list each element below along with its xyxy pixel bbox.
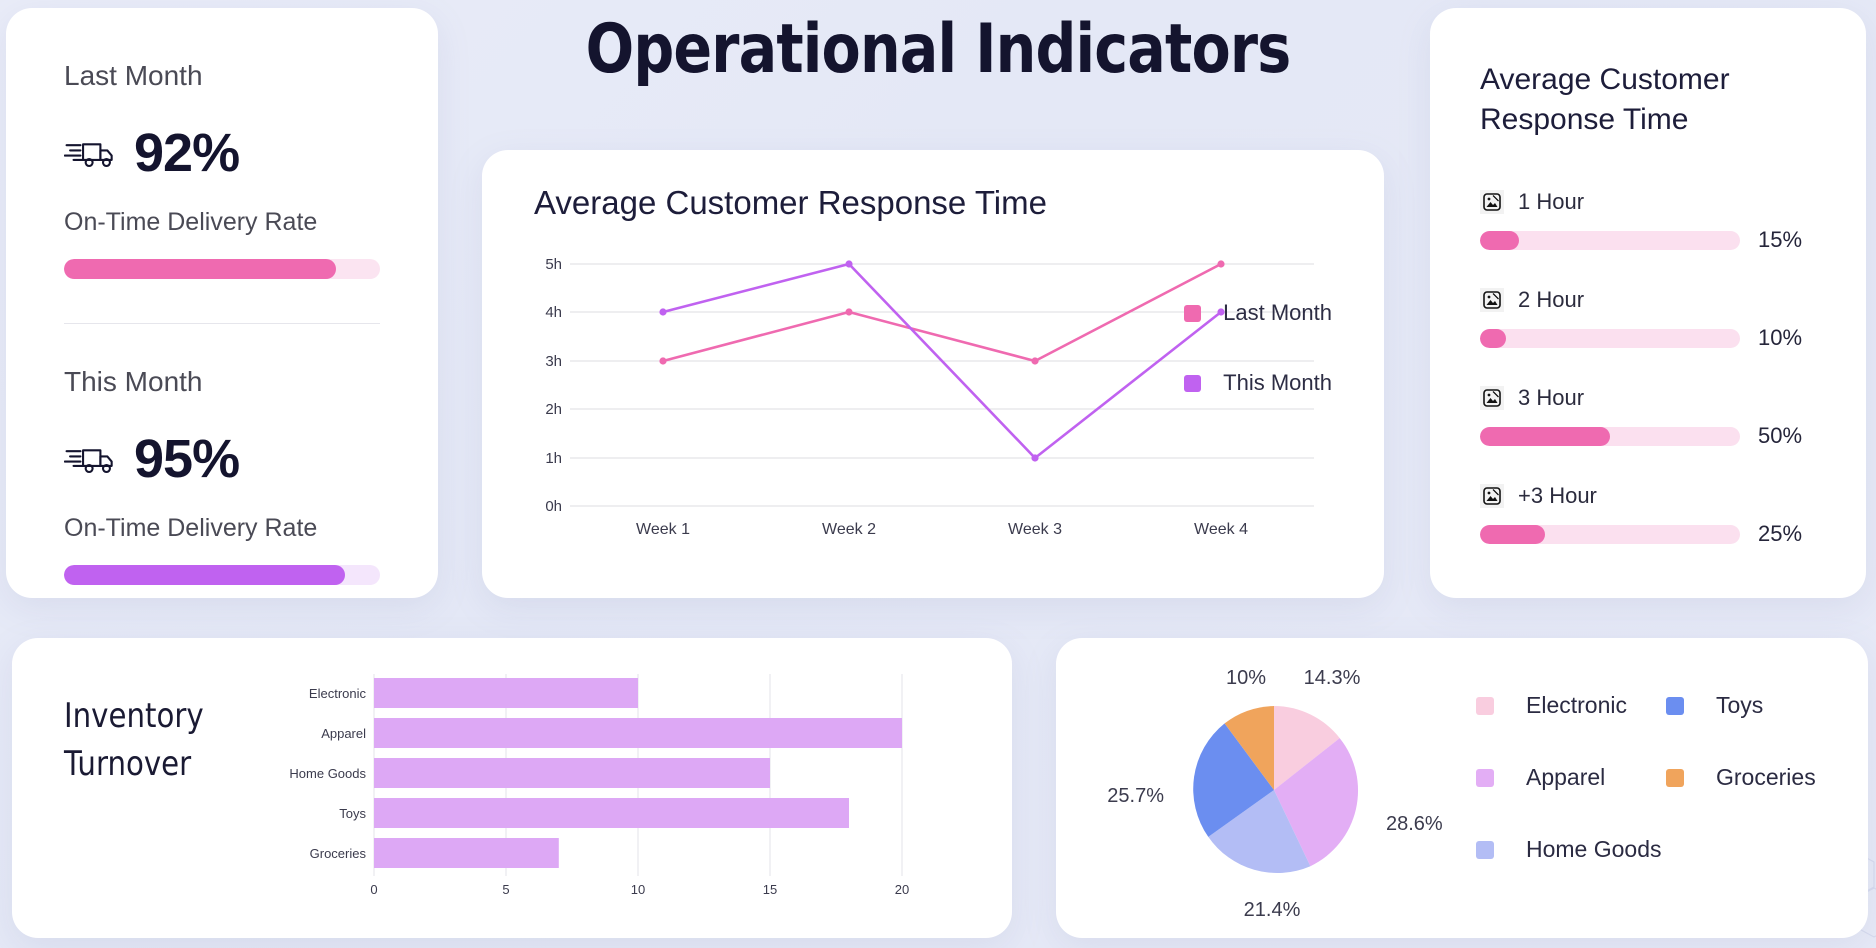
- legend-label: Last Month: [1223, 300, 1332, 326]
- legend-item-this-month[interactable]: This Month: [1184, 370, 1332, 396]
- bar-home-goods: [374, 758, 770, 788]
- svg-text:15: 15: [763, 882, 777, 897]
- response-time-label: 1 Hour: [1518, 189, 1584, 215]
- svg-text:4h: 4h: [545, 304, 562, 321]
- response-progress-track: [1480, 329, 1740, 348]
- response-percent-value: 10%: [1758, 325, 1816, 351]
- legend-item-toys[interactable]: Toys: [1666, 692, 1856, 719]
- kpi-progress-track: [64, 565, 380, 585]
- svg-text:Week 4: Week 4: [1194, 521, 1248, 538]
- svg-text:Week 2: Week 2: [822, 521, 876, 538]
- pie-chart-legend: Electronic Toys Apparel Groceries Home G…: [1476, 692, 1856, 908]
- svg-text:20: 20: [895, 882, 909, 897]
- kpi-value-row: 92%: [64, 126, 380, 180]
- svg-text:Groceries: Groceries: [310, 846, 367, 861]
- kpi-block-this-month: This Month: [64, 366, 380, 585]
- response-time-list: 1 Hour 15%: [1480, 189, 1816, 547]
- inventory-title-line-2: Turnover: [64, 740, 204, 788]
- response-card-title: Average Customer Response Time: [1480, 60, 1816, 139]
- broken-image-icon: [1480, 190, 1504, 214]
- svg-text:Toys: Toys: [339, 806, 366, 821]
- bar-toys: [374, 798, 849, 828]
- delivery-truck-icon: [64, 441, 116, 477]
- kpi-heading: This Month: [64, 366, 380, 398]
- response-progress-fill: [1480, 427, 1610, 446]
- inventory-title: Inventory Turnover: [64, 692, 204, 789]
- list-item: 1 Hour 15%: [1480, 189, 1816, 253]
- broken-image-icon: [1480, 386, 1504, 410]
- kpi-divider: [64, 323, 380, 324]
- inventory-turnover-card: Inventory Turnover Electron: [12, 638, 1012, 938]
- svg-text:0: 0: [370, 882, 377, 897]
- kpi-value-row: 95%: [64, 432, 380, 486]
- pie-value-toys: 25.7%: [1107, 785, 1164, 807]
- legend-item-last-month[interactable]: Last Month: [1184, 300, 1332, 326]
- legend-swatch-icon: [1184, 375, 1201, 392]
- svg-text:1h: 1h: [545, 450, 562, 467]
- bar-groceries: [374, 838, 559, 868]
- response-bar-row: 25%: [1480, 521, 1816, 547]
- svg-text:2h: 2h: [545, 401, 562, 418]
- line-chart-legend: Last Month This Month: [1184, 300, 1332, 396]
- list-item-head: 3 Hour: [1480, 385, 1816, 411]
- legend-swatch-icon: [1184, 305, 1201, 322]
- response-progress-fill: [1480, 231, 1519, 250]
- svg-text:3h: 3h: [545, 353, 562, 370]
- svg-text:0h: 0h: [545, 498, 562, 515]
- response-progress-track: [1480, 231, 1740, 250]
- legend-label: This Month: [1223, 370, 1332, 396]
- svg-text:5: 5: [502, 882, 509, 897]
- response-progress-fill: [1480, 329, 1506, 348]
- svg-text:10: 10: [631, 882, 645, 897]
- pie-value-electronic: 14.3%: [1304, 667, 1361, 689]
- category-share-pie-card: 14.3% 28.6% 21.4% 25.7% 10% Electronic T…: [1056, 638, 1868, 938]
- legend-swatch-icon: [1476, 697, 1494, 715]
- kpi-label: On-Time Delivery Rate: [64, 514, 380, 543]
- response-time-label: 3 Hour: [1518, 385, 1584, 411]
- legend-label: Home Goods: [1526, 836, 1662, 863]
- kpi-value: 95%: [134, 432, 239, 486]
- list-item: +3 Hour 25%: [1480, 483, 1816, 547]
- bar-apparel: [374, 718, 902, 748]
- svg-text:Home Goods: Home Goods: [289, 766, 366, 781]
- broken-image-icon: [1480, 484, 1504, 508]
- on-time-delivery-kpi-card: Last Month: [6, 8, 438, 598]
- list-item-head: 1 Hour: [1480, 189, 1816, 215]
- kpi-progress-track: [64, 259, 380, 279]
- legend-swatch-icon: [1666, 769, 1684, 787]
- list-item-head: +3 Hour: [1480, 483, 1816, 509]
- response-progress-fill: [1480, 525, 1545, 544]
- response-time-label: +3 Hour: [1518, 483, 1597, 509]
- list-item: 3 Hour 50%: [1480, 385, 1816, 449]
- response-percent-value: 25%: [1758, 521, 1816, 547]
- kpi-progress-fill: [64, 565, 345, 585]
- pie-value-groceries: 10%: [1226, 667, 1266, 689]
- kpi-label: On-Time Delivery Rate: [64, 208, 380, 237]
- svg-text:Week 1: Week 1: [636, 521, 690, 538]
- legend-item-home-goods[interactable]: Home Goods: [1476, 836, 1666, 863]
- response-bar-row: 15%: [1480, 227, 1816, 253]
- legend-item-groceries[interactable]: Groceries: [1666, 764, 1856, 791]
- response-progress-track: [1480, 427, 1740, 446]
- bar-electronic: [374, 678, 638, 708]
- kpi-heading: Last Month: [64, 60, 380, 92]
- svg-text:Apparel: Apparel: [321, 726, 366, 741]
- kpi-progress-fill: [64, 259, 336, 279]
- response-bar-row: 10%: [1480, 325, 1816, 351]
- legend-label: Groceries: [1716, 764, 1816, 791]
- svg-text:Electronic: Electronic: [309, 686, 367, 701]
- legend-swatch-icon: [1476, 769, 1494, 787]
- legend-label: Apparel: [1526, 764, 1605, 791]
- legend-item-electronic[interactable]: Electronic: [1476, 692, 1666, 719]
- response-time-label: 2 Hour: [1518, 287, 1584, 313]
- response-percent-value: 15%: [1758, 227, 1816, 253]
- category-share-pie-chart: 14.3% 28.6% 21.4% 25.7% 10%: [1076, 644, 1496, 932]
- svg-text:5h: 5h: [545, 256, 562, 273]
- pie-value-apparel: 28.6%: [1386, 813, 1443, 835]
- legend-item-apparel[interactable]: Apparel: [1476, 764, 1666, 791]
- legend-swatch-icon: [1666, 697, 1684, 715]
- response-bar-row: 50%: [1480, 423, 1816, 449]
- legend-swatch-icon: [1476, 841, 1494, 859]
- kpi-block-last-month: Last Month: [64, 60, 380, 279]
- delivery-truck-icon: [64, 135, 116, 171]
- response-progress-track: [1480, 525, 1740, 544]
- inventory-turnover-bar-chart: Electronic Apparel Home Goods Toys Groce…: [262, 668, 982, 916]
- legend-label: Toys: [1716, 692, 1763, 719]
- line-chart-title: Average Customer Response Time: [534, 184, 1344, 222]
- response-time-breakdown-card: Average Customer Response Time 1 Hour: [1430, 8, 1866, 598]
- pie-value-home-goods: 21.4%: [1244, 899, 1301, 921]
- broken-image-icon: [1480, 288, 1504, 312]
- list-item: 2 Hour 10%: [1480, 287, 1816, 351]
- kpi-value: 92%: [134, 126, 239, 180]
- response-time-line-chart-card: Average Customer Response Time 5h 4h 3h …: [482, 150, 1384, 598]
- list-item-head: 2 Hour: [1480, 287, 1816, 313]
- inventory-title-line-1: Inventory: [64, 692, 204, 740]
- dashboard-root: Operational Indicators Last Month: [0, 0, 1876, 948]
- legend-label: Electronic: [1526, 692, 1627, 719]
- response-percent-value: 50%: [1758, 423, 1816, 449]
- svg-text:Week 3: Week 3: [1008, 521, 1062, 538]
